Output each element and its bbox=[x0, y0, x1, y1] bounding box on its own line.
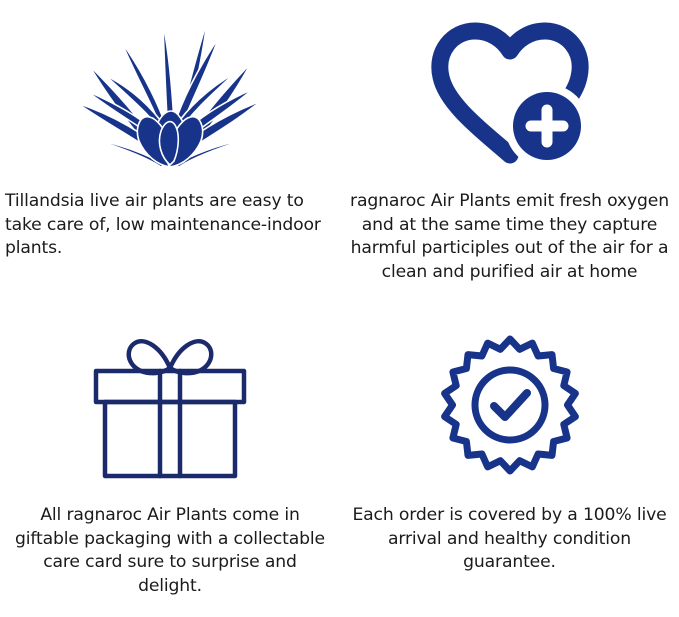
feature-caption: ragnaroc Air Plants emit fresh oxygen an… bbox=[340, 190, 679, 284]
seal-starburst bbox=[444, 339, 575, 471]
feature-grid: Tillandsia live air plants are easy to t… bbox=[0, 0, 679, 617]
feature-cell-guarantee: Each order is covered by a 100% live arr… bbox=[340, 309, 679, 617]
feature-cell-air-plant: Tillandsia live air plants are easy to t… bbox=[0, 0, 340, 309]
feature-cell-gift-packaging: All ragnaroc Air Plants come in giftable… bbox=[0, 309, 340, 617]
gift-body bbox=[105, 402, 235, 476]
gift-box-icon-container bbox=[0, 309, 340, 504]
seal-inner-circle bbox=[475, 370, 545, 440]
feature-cell-air-purification: ragnaroc Air Plants emit fresh oxygen an… bbox=[340, 0, 679, 309]
feature-caption: Each order is covered by a 100% live arr… bbox=[340, 504, 679, 575]
bow-loop-left bbox=[128, 341, 169, 373]
heart-plus-icon-container bbox=[340, 0, 679, 190]
heart-plus-icon bbox=[425, 20, 595, 170]
feature-caption: All ragnaroc Air Plants come in giftable… bbox=[0, 504, 340, 598]
guarantee-seal-icon bbox=[435, 332, 585, 482]
check-icon bbox=[494, 393, 527, 417]
air-plant-icon bbox=[75, 15, 265, 175]
gift-box-icon bbox=[83, 327, 258, 487]
bow-loop-right bbox=[170, 341, 211, 373]
gift-lid bbox=[96, 371, 244, 402]
guarantee-seal-icon-container bbox=[340, 309, 679, 504]
feature-caption: Tillandsia live air plants are easy to t… bbox=[0, 190, 340, 261]
air-plant-icon-container bbox=[0, 0, 340, 190]
